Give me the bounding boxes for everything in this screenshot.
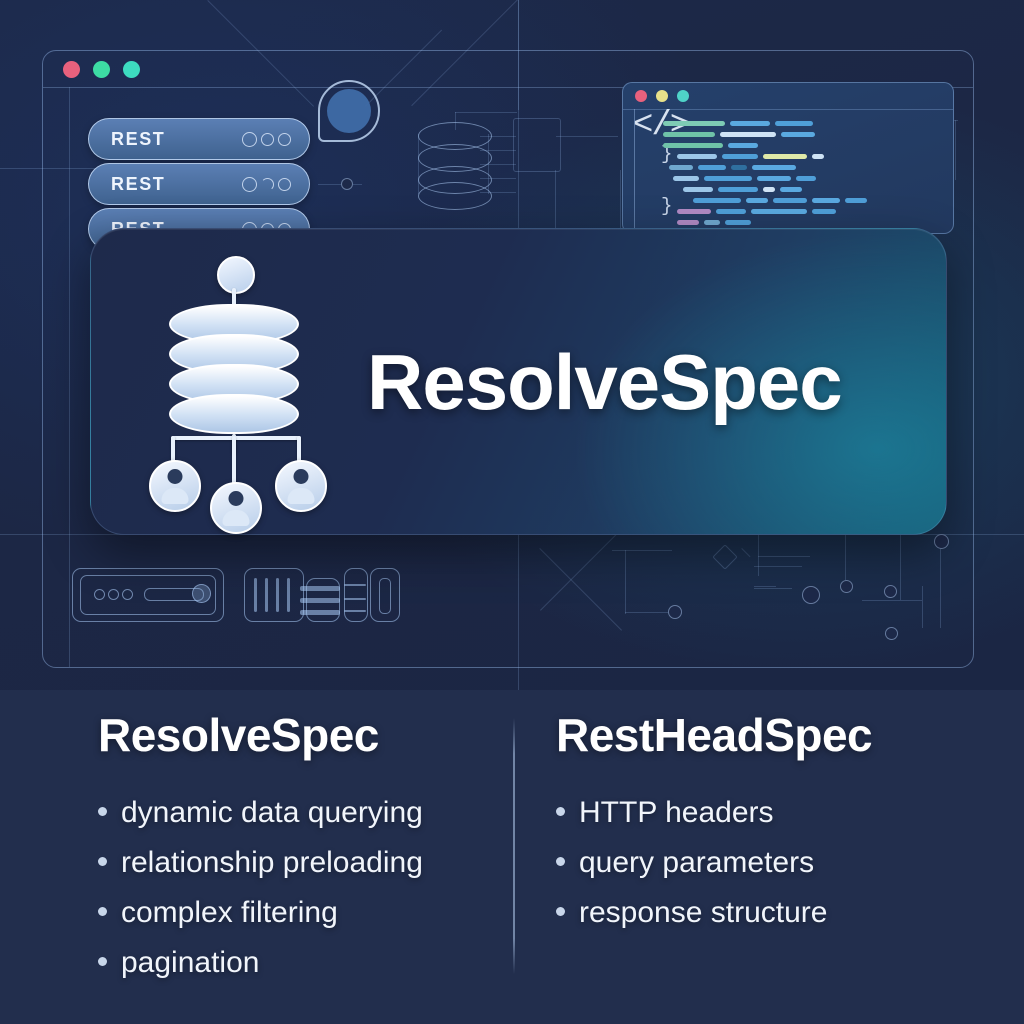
code-token (763, 187, 775, 192)
ladder-rung (344, 610, 366, 612)
logo-client-node-icon (210, 482, 262, 534)
code-token (663, 143, 723, 148)
feature-item: dynamic data querying (98, 796, 498, 830)
feature-item: pagination (98, 946, 498, 980)
code-line (693, 198, 867, 203)
rest-pill-glyph-icon (242, 177, 291, 192)
code-token (677, 154, 717, 159)
column-divider (513, 718, 515, 974)
feature-item-label: HTTP headers (579, 796, 774, 830)
code-token (812, 154, 824, 159)
code-token (663, 121, 725, 126)
logo-branch-center (232, 436, 236, 486)
column-heading: RestHeadSpec (556, 708, 976, 762)
feature-section: ResolveSpec dynamic data queryingrelatio… (0, 690, 1024, 1024)
code-token (716, 209, 746, 214)
code-lines (641, 117, 945, 229)
blueprint-database-icon (418, 122, 490, 208)
ladder-icon (344, 568, 368, 622)
code-token (752, 165, 796, 170)
code-token (746, 198, 768, 203)
code-line (677, 220, 751, 225)
browser-sidebar-edge (69, 87, 70, 667)
bullet-icon (556, 857, 565, 866)
feature-item-label: complex filtering (121, 896, 338, 930)
bullet-icon (98, 807, 107, 816)
rest-pill-label: REST (111, 174, 165, 195)
feature-item-label: query parameters (579, 846, 814, 880)
feature-item-label: response structure (579, 896, 827, 930)
code-token (683, 187, 713, 192)
feature-column-resolvespec: ResolveSpec dynamic data queryingrelatio… (98, 708, 498, 996)
server-led-icon (108, 589, 119, 600)
feature-item: relationship preloading (98, 846, 498, 880)
code-token (693, 198, 741, 203)
maximize-dot[interactable] (123, 61, 140, 78)
close-dot[interactable] (63, 61, 80, 78)
code-token (677, 220, 699, 225)
logo-top-node-icon (217, 256, 255, 294)
code-token (718, 187, 758, 192)
bullet-icon (98, 907, 107, 916)
code-token (704, 220, 720, 225)
code-token (751, 209, 807, 214)
code-token (773, 198, 807, 203)
rest-pill-glyph-icon (242, 132, 291, 147)
minimize-dot[interactable] (656, 90, 668, 102)
module-bar (300, 610, 340, 615)
logo-client-node-icon (275, 460, 327, 512)
code-line (663, 132, 815, 137)
feature-item-label: relationship preloading (121, 846, 423, 880)
close-dot[interactable] (635, 90, 647, 102)
bullet-icon (556, 907, 565, 916)
code-token (725, 220, 751, 225)
code-editor-window: </> } } (622, 82, 954, 234)
database-network-logo (113, 252, 363, 512)
poster-stage: REST REST REST (0, 0, 1024, 1024)
code-token (720, 132, 776, 137)
module-bar (300, 598, 340, 603)
code-line (683, 187, 802, 192)
rack-fin (265, 578, 268, 612)
rest-pill-2[interactable]: REST (88, 163, 310, 205)
feature-item: response structure (556, 896, 976, 930)
server-knob-icon (192, 584, 211, 603)
code-token (775, 121, 813, 126)
logo-client-node-icon (149, 460, 201, 512)
code-token (704, 176, 752, 181)
rack-fin (254, 578, 257, 612)
column-heading: ResolveSpec (98, 708, 498, 762)
hero-illustration: REST REST REST (0, 0, 1024, 690)
minimize-dot[interactable] (93, 61, 110, 78)
window-traffic-lights (63, 61, 140, 78)
server-led-icon (94, 589, 105, 600)
logo-database-cylinder-icon (169, 304, 299, 436)
server-led-icon (122, 589, 133, 600)
rest-pill-label: REST (111, 129, 165, 150)
rack-unit-icon (244, 568, 304, 622)
code-token (677, 209, 711, 214)
code-line (677, 209, 836, 214)
feature-item: complex filtering (98, 896, 498, 930)
bullet-icon (556, 807, 565, 816)
page-title: ResolveSpec (367, 343, 842, 421)
ladder-rung (344, 598, 366, 600)
rack-fin (287, 578, 290, 612)
code-line (663, 121, 813, 126)
code-token (812, 198, 840, 203)
code-token (812, 209, 836, 214)
code-token (757, 176, 791, 181)
feature-item-label: pagination (121, 946, 259, 980)
maximize-dot[interactable] (677, 90, 689, 102)
drive-slot (379, 578, 391, 614)
code-line (663, 143, 758, 148)
chat-bubble-icon (318, 80, 380, 142)
code-line (673, 176, 816, 181)
module-bar (300, 586, 340, 591)
hero-card: ResolveSpec (90, 228, 947, 535)
code-token (698, 165, 726, 170)
logo-branch (171, 436, 301, 440)
feature-column-restheadspec: RestHeadSpec HTTP headersquery parameter… (556, 708, 976, 946)
code-token (663, 132, 715, 137)
code-token (780, 187, 802, 192)
rest-pill-1[interactable]: REST (88, 118, 310, 160)
code-window-traffic-lights (635, 90, 689, 102)
code-token (763, 154, 807, 159)
code-token (731, 165, 747, 170)
code-token (781, 132, 815, 137)
code-token (796, 176, 816, 181)
code-token (728, 143, 758, 148)
rack-fin (276, 578, 279, 612)
feature-item: query parameters (556, 846, 976, 880)
feature-list: HTTP headersquery parametersresponse str… (556, 796, 976, 930)
bullet-icon (98, 857, 107, 866)
feature-item-label: dynamic data querying (121, 796, 423, 830)
feature-list: dynamic data queryingrelationship preloa… (98, 796, 498, 980)
code-token (669, 165, 693, 170)
ladder-rung (344, 584, 366, 586)
code-token (673, 176, 699, 181)
code-token (722, 154, 758, 159)
bullet-icon (98, 957, 107, 966)
code-token (730, 121, 770, 126)
code-line (677, 154, 824, 159)
code-token (845, 198, 867, 203)
feature-item: HTTP headers (556, 796, 976, 830)
code-line (669, 165, 796, 170)
